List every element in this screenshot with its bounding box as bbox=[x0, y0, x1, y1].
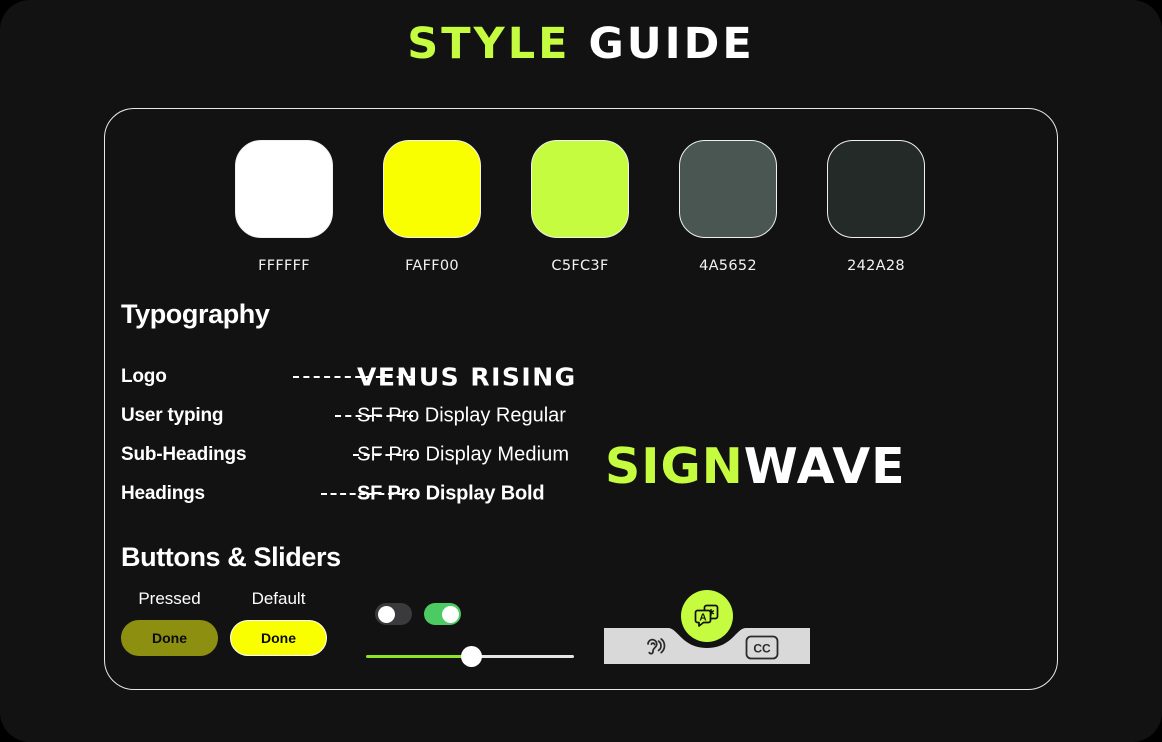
svg-text:CC: CC bbox=[753, 641, 771, 655]
page-title-part2: GUIDE bbox=[588, 19, 754, 69]
brand-wordmark: SIGNWAVE bbox=[605, 442, 906, 491]
slider-filled-track bbox=[366, 655, 471, 658]
swatch-242a28[interactable]: 242A28 bbox=[826, 140, 926, 274]
wordmark-part1: SIGN bbox=[605, 438, 744, 495]
swatch-box bbox=[383, 140, 481, 238]
typography-row-user-typing: User typing SF Pro Display Regular bbox=[121, 396, 641, 435]
swatch-box bbox=[531, 140, 629, 238]
page-title: STYLE GUIDE bbox=[0, 18, 1162, 70]
button-label: Done bbox=[261, 630, 296, 646]
typography-row-logo: Logo VENUS RISING bbox=[121, 357, 641, 396]
typography-row-label: User typing bbox=[121, 405, 223, 427]
color-palette: FFFFFF FAFF00 C5FC3F 4A5652 242A28 bbox=[234, 140, 934, 305]
translate-fab-button[interactable]: ✱ A bbox=[681, 590, 733, 642]
accessibility-navbar: CC ✱ A bbox=[602, 587, 812, 667]
button-group-default: Default Done bbox=[230, 589, 327, 656]
done-button-default[interactable]: Done bbox=[230, 620, 327, 656]
typography-row-label: Logo bbox=[121, 366, 167, 388]
done-button-pressed[interactable]: Done bbox=[121, 620, 218, 656]
typography-row-sample: SF Pro Display Medium bbox=[357, 443, 569, 466]
button-label: Done bbox=[152, 630, 187, 646]
cc-glyph: CC bbox=[745, 635, 779, 660]
typography-row-label: Headings bbox=[121, 483, 205, 505]
slider-remaining-track bbox=[471, 655, 574, 658]
button-group-pressed: Pressed Done bbox=[121, 589, 218, 656]
style-guide-card: FFFFFF FAFF00 C5FC3F 4A5652 242A28 Typog… bbox=[104, 108, 1058, 690]
typography-heading: Typography bbox=[121, 299, 270, 330]
typography-row-sample: VENUS RISING bbox=[357, 362, 577, 391]
swatch-c5fc3f[interactable]: C5FC3F bbox=[530, 140, 630, 274]
hearing-ear-icon[interactable] bbox=[638, 631, 670, 663]
typography-row-sample: SF Pro Display Regular bbox=[357, 404, 566, 427]
swatch-hex-label: 242A28 bbox=[826, 258, 926, 274]
toggle-switch-on[interactable] bbox=[424, 603, 461, 625]
swatch-hex-label: FAFF00 bbox=[382, 258, 482, 274]
typography-row-sample: SF Pro Display Bold bbox=[357, 482, 544, 505]
slider-control[interactable] bbox=[366, 646, 574, 668]
swatch-hex-label: 4A5652 bbox=[678, 258, 778, 274]
typography-row-headings: Headings SF Pro Display Bold bbox=[121, 474, 641, 513]
typography-list: Logo VENUS RISING User typing SF Pro Dis… bbox=[121, 357, 641, 513]
closed-captions-icon[interactable]: CC bbox=[744, 633, 780, 661]
toggle-switch-off[interactable] bbox=[375, 603, 412, 625]
button-caption: Default bbox=[230, 589, 327, 609]
style-guide-frame: STYLE GUIDE FFFFFF FAFF00 C5FC3F 4A5652 bbox=[0, 0, 1162, 742]
svg-text:A: A bbox=[699, 613, 706, 624]
wordmark-part2: WAVE bbox=[744, 438, 906, 495]
swatch-faff00[interactable]: FAFF00 bbox=[382, 140, 482, 274]
swatch-box bbox=[827, 140, 925, 238]
toggle-knob bbox=[442, 606, 459, 623]
swatch-hex-label: FFFFFF bbox=[234, 258, 334, 274]
swatch-ffffff[interactable]: FFFFFF bbox=[234, 140, 334, 274]
slider-thumb[interactable] bbox=[461, 646, 482, 667]
typography-row-sub-headings: Sub-Headings SF Pro Display Medium bbox=[121, 435, 641, 474]
typography-row-label: Sub-Headings bbox=[121, 444, 246, 466]
buttons-sliders-heading: Buttons & Sliders bbox=[121, 542, 341, 573]
swatch-4a5652[interactable]: 4A5652 bbox=[678, 140, 778, 274]
toggle-knob bbox=[378, 606, 395, 623]
page-title-part1: STYLE bbox=[407, 19, 570, 69]
button-caption: Pressed bbox=[121, 589, 218, 609]
swatch-box bbox=[235, 140, 333, 238]
swatch-hex-label: C5FC3F bbox=[530, 258, 630, 274]
swatch-box bbox=[679, 140, 777, 238]
translate-icon: ✱ A bbox=[692, 601, 722, 631]
